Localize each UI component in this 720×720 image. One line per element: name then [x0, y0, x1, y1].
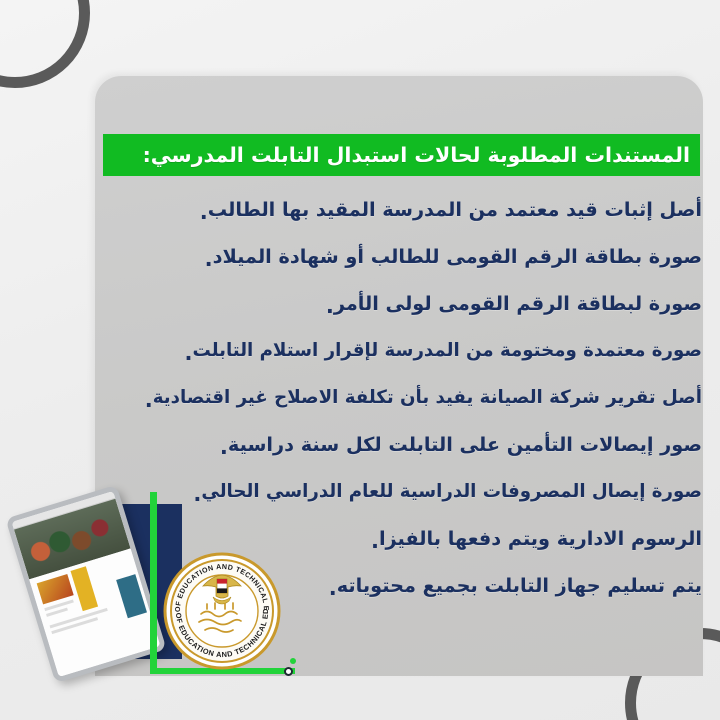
list-item: صور إيصالات التأمين على التابلت لكل سنة …	[96, 421, 702, 468]
bullet-icon: .	[200, 202, 208, 223]
screen-highlight	[71, 566, 99, 611]
bullet-icon: .	[220, 437, 228, 458]
outline-dot-marker	[284, 667, 293, 676]
list-item: صورة معتمدة ومختومة من المدرسة لإقرار اس…	[96, 327, 702, 374]
ministry-seal: MINISTRY OF EDUCATION AND TECHNICAL EDUC…	[163, 552, 281, 670]
bullet-icon: .	[326, 296, 334, 317]
bullet-icon: .	[193, 484, 201, 505]
bullet-icon: .	[145, 390, 153, 411]
list-item-label: أصل إثبات قيد معتمد من المدرسة المقيد به…	[208, 198, 702, 221]
list-item: صورة لبطاقة الرقم القومى لولى الأمر .	[96, 280, 702, 327]
ministry-seal-icon: MINISTRY OF EDUCATION AND TECHNICAL EDUC…	[163, 552, 281, 670]
list-item-label: الرسوم الادارية ويتم دفعها بالفيزا	[379, 527, 702, 550]
green-dot-marker	[290, 658, 296, 664]
list-item-label: صورة بطاقة الرقم القومى للطالب أو شهادة …	[213, 245, 702, 268]
bullet-icon: .	[184, 343, 192, 364]
list-item-label: صورة معتمدة ومختومة من المدرسة لإقرار اس…	[192, 340, 702, 361]
list-item-label: صور إيصالات التأمين على التابلت لكل سنة …	[228, 433, 702, 456]
list-item-label: يتم تسليم جهاز التابلت بجميع محتوياته	[337, 574, 702, 597]
green-accent-vertical	[150, 492, 157, 673]
page-title: المستندات المطلوبة لحالات استبدال التابل…	[143, 143, 690, 167]
bullet-icon: .	[371, 531, 379, 552]
infographic-poster: المستندات المطلوبة لحالات استبدال التابل…	[0, 0, 720, 720]
bullet-icon: .	[205, 249, 213, 270]
list-item-label: صورة إيصال المصروفات الدراسية للعام الدر…	[201, 481, 702, 502]
list-item-label: أصل تقرير شركة الصيانة يفيد بأن تكلفة ال…	[153, 387, 702, 408]
list-item: أصل إثبات قيد معتمد من المدرسة المقيد به…	[96, 186, 702, 233]
list-item-label: صورة لبطاقة الرقم القومى لولى الأمر	[334, 292, 702, 315]
bullet-icon: .	[329, 578, 337, 599]
decorative-ring-top-left	[0, 0, 90, 88]
screen-sidebar	[116, 574, 147, 618]
title-banner: المستندات المطلوبة لحالات استبدال التابل…	[103, 134, 700, 176]
list-item: صورة بطاقة الرقم القومى للطالب أو شهادة …	[96, 233, 702, 280]
list-item: أصل تقرير شركة الصيانة يفيد بأن تكلفة ال…	[96, 374, 702, 421]
